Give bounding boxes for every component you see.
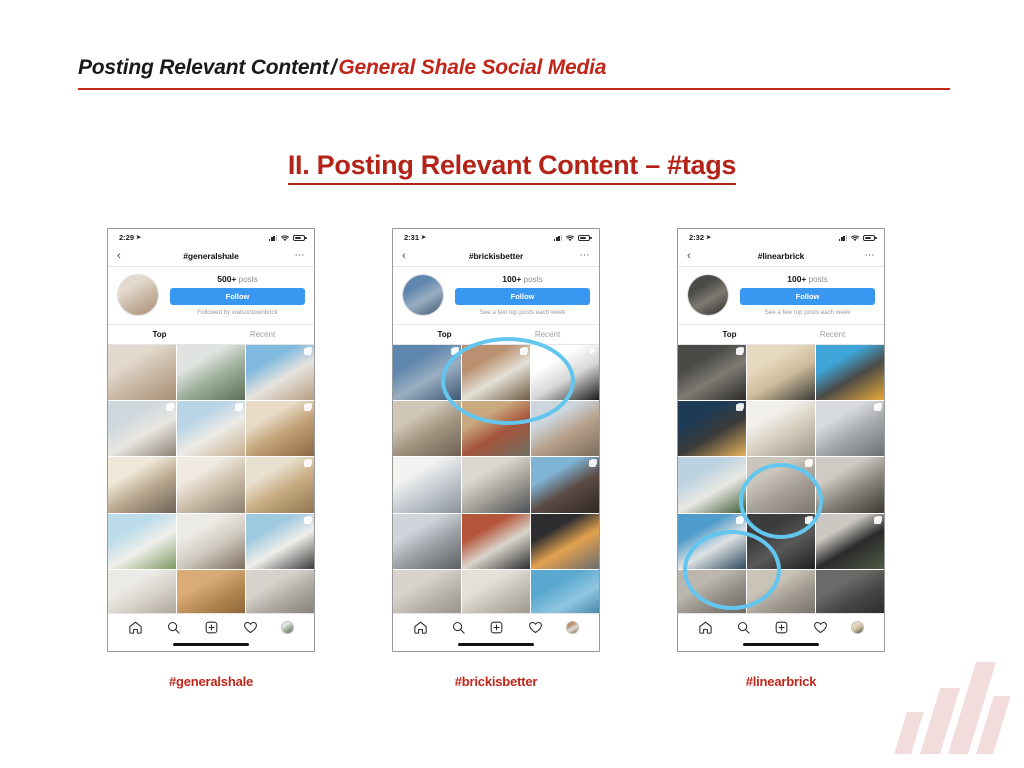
- status-time: 2:29➤: [119, 233, 141, 242]
- grid-post-stone-masonry-closeup[interactable]: [393, 401, 461, 456]
- header-title: Posting Relevant Content/General Shale S…: [78, 56, 950, 80]
- logo-bar-1: [894, 712, 924, 754]
- header-title-red: General Shale Social Media: [338, 56, 606, 79]
- posts-count-value: 500+: [217, 274, 236, 284]
- status-time-text: 2:32: [689, 233, 704, 242]
- post-thumbnail: [462, 457, 530, 512]
- profile-avatar-icon[interactable]: [281, 621, 294, 634]
- hashtag-profile-header: 100+ postsFollowSee a few top posts each…: [678, 267, 884, 325]
- post-thumbnail: [816, 457, 884, 512]
- multi-post-icon: [736, 404, 743, 411]
- header-title-black: Posting Relevant Content: [78, 56, 329, 79]
- tab-top[interactable]: Top: [108, 325, 211, 344]
- multi-post-icon: [736, 348, 743, 355]
- grid-post-modern-black-townhome[interactable]: [531, 514, 599, 569]
- grid-post-man-in-sunglasses-portrait[interactable]: [462, 345, 530, 400]
- multi-post-icon: [304, 460, 311, 467]
- phone-screenshot: 2:31➤‹#brickisbetter⋯100+ postsFollowSee…: [392, 228, 600, 652]
- status-icons: [839, 229, 875, 247]
- hashtag-navbar: ‹#brickisbetter⋯: [393, 246, 599, 267]
- posts-count-value: 100+: [502, 274, 521, 284]
- status-icons: [554, 229, 590, 247]
- page-title: II. Posting Relevant Content – #tags: [0, 150, 1024, 181]
- profile-details: 100+ postsFollowSee a few top posts each…: [444, 274, 590, 316]
- grid-post-brick-home-garage[interactable]: [531, 401, 599, 456]
- grid-post-black-roof-white-house[interactable]: [246, 514, 314, 569]
- general-shale-logo: [890, 650, 1010, 754]
- location-arrow-icon: ➤: [706, 234, 711, 241]
- battery-icon: [293, 235, 305, 241]
- ellipsis-icon[interactable]: ⋯: [859, 251, 875, 261]
- profile-details: 100+ postsFollowSee a few top posts each…: [729, 274, 875, 316]
- post-thumbnail: [177, 457, 245, 512]
- post-thumbnail: [678, 457, 746, 512]
- status-time-text: 2:29: [119, 233, 134, 242]
- grid-post-dining-table-decor[interactable]: [108, 457, 176, 512]
- profile-details: 500+ postsFollowFollowed by watsontownbr…: [159, 274, 305, 316]
- add-post-icon[interactable]: [489, 620, 504, 635]
- bottom-nav-icons: [393, 614, 599, 638]
- multi-post-icon: [235, 404, 242, 411]
- grid-post-interior-arched-doors[interactable]: [246, 401, 314, 456]
- add-post-icon[interactable]: [204, 620, 219, 635]
- grid-post-dark-brick-office-building[interactable]: [531, 457, 599, 512]
- grid-post-white-modern-windows[interactable]: [678, 457, 746, 512]
- posts-count: 500+ posts: [170, 274, 305, 284]
- heart-icon[interactable]: [528, 620, 543, 635]
- post-thumbnail: [108, 457, 176, 512]
- top-recent-tabs: TopRecent: [393, 325, 599, 345]
- status-time-text: 2:31: [404, 233, 419, 242]
- post-thumbnail: [747, 345, 815, 400]
- grid-post-covered-porch-wreath[interactable]: [177, 514, 245, 569]
- grid-post-concrete-corner-glass[interactable]: [462, 457, 530, 512]
- posts-count-label: posts: [239, 275, 258, 284]
- battery-icon: [578, 235, 590, 241]
- post-thumbnail: [393, 457, 461, 512]
- posts-count-label: posts: [809, 275, 828, 284]
- multi-post-icon: [304, 404, 311, 411]
- profile-avatar-icon[interactable]: [566, 621, 579, 634]
- photo-grid: [108, 345, 314, 625]
- grid-post-spiral-stair-interior[interactable]: [816, 457, 884, 512]
- multi-post-icon: [874, 517, 881, 524]
- hashtag-title: #brickisbetter: [418, 251, 574, 261]
- grid-post-cherokee-brick-logo-video[interactable]: [531, 345, 599, 400]
- phone-screenshot: 2:32➤‹#linearbrick⋯100+ postsFollowSee a…: [677, 228, 885, 652]
- multi-post-icon: [736, 517, 743, 524]
- posts-count: 100+ posts: [740, 274, 875, 284]
- grid-post-porch-column-evergreen[interactable]: [177, 345, 245, 400]
- posts-count-label: posts: [524, 275, 543, 284]
- multi-post-icon: [451, 348, 458, 355]
- hashtag-title: #linearbrick: [703, 251, 859, 261]
- multi-post-icon: [805, 517, 812, 524]
- follow-button[interactable]: Follow: [455, 288, 590, 305]
- phone-caption: #brickisbetter: [392, 674, 600, 689]
- search-icon[interactable]: [736, 620, 751, 635]
- photo-grid: [678, 345, 884, 625]
- grid-post-dark-stone-gable-window[interactable]: [816, 345, 884, 400]
- home-icon[interactable]: [413, 620, 428, 635]
- add-post-icon[interactable]: [774, 620, 789, 635]
- status-bar: 2:31➤: [393, 229, 599, 246]
- hashtag-navbar: ‹#linearbrick⋯: [678, 246, 884, 267]
- top-recent-tabs: TopRecent: [108, 325, 314, 345]
- grid-post-blue-brick-facade[interactable]: [393, 345, 461, 400]
- grid-post-entry-doors-interior[interactable]: [246, 457, 314, 512]
- multi-post-icon: [166, 404, 173, 411]
- post-thumbnail: [531, 514, 599, 569]
- ellipsis-icon[interactable]: ⋯: [574, 251, 590, 261]
- bottom-navigation-bar: [108, 613, 314, 651]
- follow-subtext: Followed by watsontownbrick: [170, 309, 305, 316]
- hashtag-avatar: [117, 274, 159, 316]
- grid-post-beige-tile-facade[interactable]: [747, 345, 815, 400]
- home-icon[interactable]: [128, 620, 143, 635]
- bottom-navigation-bar: [678, 613, 884, 651]
- status-bar: 2:32➤: [678, 229, 884, 246]
- grid-post-white-two-story-home[interactable]: [108, 514, 176, 569]
- phone-column-brickisbetter: 2:31➤‹#brickisbetter⋯100+ postsFollowSee…: [392, 228, 600, 689]
- bottom-nav-icons: [678, 614, 884, 638]
- posts-count-value: 100+: [787, 274, 806, 284]
- home-indicator: [458, 643, 534, 646]
- hashtag-profile-header: 100+ postsFollowSee a few top posts each…: [393, 267, 599, 325]
- post-thumbnail: [108, 345, 176, 400]
- hashtag-avatar: [402, 274, 444, 316]
- chevron-left-icon[interactable]: ‹: [402, 251, 418, 262]
- play-video-icon: [590, 348, 596, 354]
- grid-post-fireplace-mantel-styling[interactable]: [177, 457, 245, 512]
- grid-post-white-dining-interior[interactable]: [747, 401, 815, 456]
- wifi-icon: [565, 229, 575, 247]
- multi-post-icon: [520, 348, 527, 355]
- post-thumbnail: [393, 514, 461, 569]
- grid-post-dark-linear-brick-panels[interactable]: [678, 345, 746, 400]
- hashtag-navbar: ‹#generalshale⋯: [108, 246, 314, 267]
- tab-top[interactable]: Top: [393, 325, 496, 344]
- heart-icon[interactable]: [813, 620, 828, 635]
- grid-post-new-build-dormers[interactable]: [177, 401, 245, 456]
- phone-column-linearbrick: 2:32➤‹#linearbrick⋯100+ postsFollowSee a…: [677, 228, 885, 689]
- grid-post-patterned-brick-apartment[interactable]: [678, 514, 746, 569]
- home-indicator: [173, 643, 249, 646]
- post-thumbnail: [108, 514, 176, 569]
- header-title-separator: /: [329, 56, 339, 79]
- header-divider-rule: [78, 88, 950, 90]
- battery-icon: [863, 235, 875, 241]
- page-title-text: II. Posting Relevant Content – #tags: [288, 150, 736, 185]
- status-bar: 2:29➤: [108, 229, 314, 246]
- top-recent-tabs: TopRecent: [678, 325, 884, 345]
- grid-post-white-farmhouse-blue-sky[interactable]: [246, 345, 314, 400]
- bottom-navigation-bar: [393, 613, 599, 651]
- grid-post-gray-roof-farmhouse[interactable]: [108, 401, 176, 456]
- grid-post-dark-glass-facade-tree[interactable]: [816, 514, 884, 569]
- post-thumbnail: [462, 401, 530, 456]
- grid-post-news-article-post[interactable]: [393, 457, 461, 512]
- phone-screenshot: 2:29➤‹#generalshale⋯500+ postsFollowFoll…: [107, 228, 315, 652]
- status-time: 2:32➤: [689, 233, 711, 242]
- post-thumbnail: [177, 345, 245, 400]
- home-icon[interactable]: [698, 620, 713, 635]
- photo-grid: [393, 345, 599, 625]
- grid-post-red-brick-interior-bike[interactable]: [462, 514, 530, 569]
- grid-post-entry-hallway-brick-floor[interactable]: [108, 345, 176, 400]
- hashtag-profile-header: 500+ postsFollowFollowed by watsontownbr…: [108, 267, 314, 325]
- signal-bars-icon: [554, 235, 562, 241]
- location-arrow-icon: ➤: [136, 234, 141, 241]
- signal-bars-icon: [269, 235, 277, 241]
- search-icon[interactable]: [451, 620, 466, 635]
- hashtag-title: #generalshale: [133, 251, 289, 261]
- post-thumbnail: [747, 401, 815, 456]
- profile-avatar-icon[interactable]: [851, 621, 864, 634]
- follow-subtext: See a few top posts each week: [455, 309, 590, 316]
- grid-post-modern-house-night[interactable]: [678, 401, 746, 456]
- wifi-icon: [850, 229, 860, 247]
- post-thumbnail: [531, 401, 599, 456]
- post-thumbnail: [462, 514, 530, 569]
- hashtag-avatar: [687, 274, 729, 316]
- tab-recent[interactable]: Recent: [211, 325, 314, 344]
- status-icons: [269, 229, 305, 247]
- multi-post-icon: [304, 517, 311, 524]
- post-thumbnail: [393, 401, 461, 456]
- phone-column-generalshale: 2:29➤‹#generalshale⋯500+ postsFollowFoll…: [107, 228, 315, 689]
- multi-post-icon: [805, 460, 812, 467]
- chevron-left-icon[interactable]: ‹: [687, 251, 703, 262]
- follow-button[interactable]: Follow: [170, 288, 305, 305]
- signal-bars-icon: [839, 235, 847, 241]
- multi-post-icon: [304, 348, 311, 355]
- bottom-nav-icons: [108, 614, 314, 638]
- tab-top[interactable]: Top: [678, 325, 781, 344]
- home-indicator: [743, 643, 819, 646]
- grid-post-brick-color-swatches[interactable]: [462, 401, 530, 456]
- post-thumbnail: [816, 345, 884, 400]
- tab-recent[interactable]: Recent: [496, 325, 599, 344]
- heart-icon[interactable]: [243, 620, 258, 635]
- location-arrow-icon: ➤: [421, 234, 426, 241]
- multi-post-icon: [589, 460, 596, 467]
- phone-caption: #linearbrick: [677, 674, 885, 689]
- ellipsis-icon[interactable]: ⋯: [289, 251, 305, 261]
- wifi-icon: [280, 229, 290, 247]
- follow-subtext: See a few top posts each week: [740, 309, 875, 316]
- phone-caption: #generalshale: [107, 674, 315, 689]
- grid-post-gray-house-driveway-van[interactable]: [816, 401, 884, 456]
- grid-post-gray-linear-brick-column[interactable]: [747, 457, 815, 512]
- search-icon[interactable]: [166, 620, 181, 635]
- multi-post-icon: [874, 404, 881, 411]
- slide-header: Posting Relevant Content/General Shale S…: [78, 56, 950, 90]
- grid-post-bar-sign-streetscape[interactable]: [393, 514, 461, 569]
- follow-button[interactable]: Follow: [740, 288, 875, 305]
- grid-post-dark-slate-corner[interactable]: [747, 514, 815, 569]
- status-time: 2:31➤: [404, 233, 426, 242]
- post-thumbnail: [531, 345, 599, 400]
- posts-count: 100+ posts: [455, 274, 590, 284]
- tab-recent[interactable]: Recent: [781, 325, 884, 344]
- post-thumbnail: [177, 514, 245, 569]
- chevron-left-icon[interactable]: ‹: [117, 251, 133, 262]
